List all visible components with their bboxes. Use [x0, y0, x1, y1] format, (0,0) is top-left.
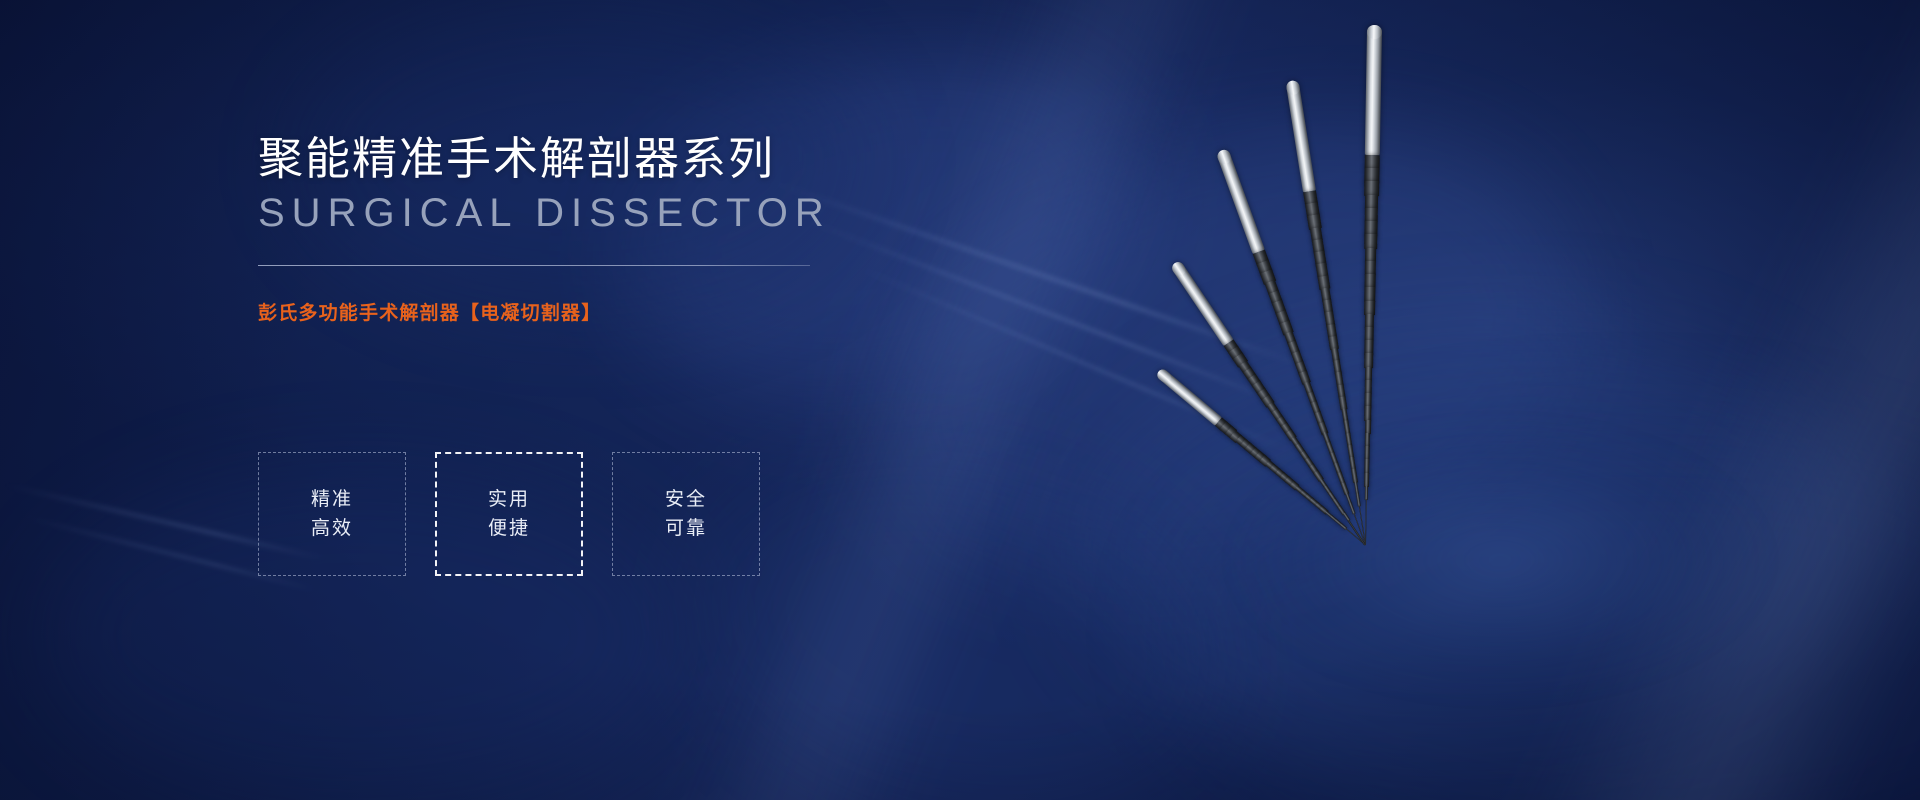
product-hero-banner: 聚能精准手术解剖器系列 SURGICAL DISSECTOR 彭氏多功能手术解剖…	[0, 0, 1920, 800]
surgical-dissector-5	[1358, 25, 1382, 545]
feature-badge-2-line1: 实用	[488, 485, 530, 514]
feature-badge-2[interactable]: 实用 便捷	[435, 452, 583, 576]
dissector-metal-grip	[1170, 260, 1234, 346]
dissector-metal-grip	[1215, 148, 1264, 254]
page-title: 聚能精准手术解剖器系列	[258, 132, 958, 185]
feature-badge-3-line1: 安全	[665, 485, 707, 514]
feature-badge-1[interactable]: 精准 高效	[258, 452, 406, 576]
surgical-dissector-fan-image	[1150, 0, 1920, 800]
dissector-needle-tip	[1364, 499, 1367, 545]
dissector-metal-grip	[1155, 367, 1222, 426]
feature-badge-2-line2: 便捷	[488, 514, 530, 543]
product-name-label: 彭氏多功能手术解剖器【电凝切割器】	[258, 298, 958, 325]
hero-text-block: 聚能精准手术解剖器系列 SURGICAL DISSECTOR 彭氏多功能手术解剖…	[258, 132, 958, 325]
divider	[258, 265, 810, 266]
dissector-metal-grip	[1364, 25, 1381, 155]
feature-badge-1-line2: 高效	[311, 514, 353, 543]
feature-badge-3-line2: 可靠	[665, 514, 707, 543]
page-subtitle-english: SURGICAL DISSECTOR	[258, 191, 958, 235]
feature-badge-group: 精准 高效 实用 便捷 安全 可靠	[258, 452, 760, 576]
feature-badge-3[interactable]: 安全 可靠	[612, 452, 760, 576]
dissector-metal-grip	[1285, 80, 1315, 193]
feature-badge-1-line1: 精准	[311, 485, 353, 514]
